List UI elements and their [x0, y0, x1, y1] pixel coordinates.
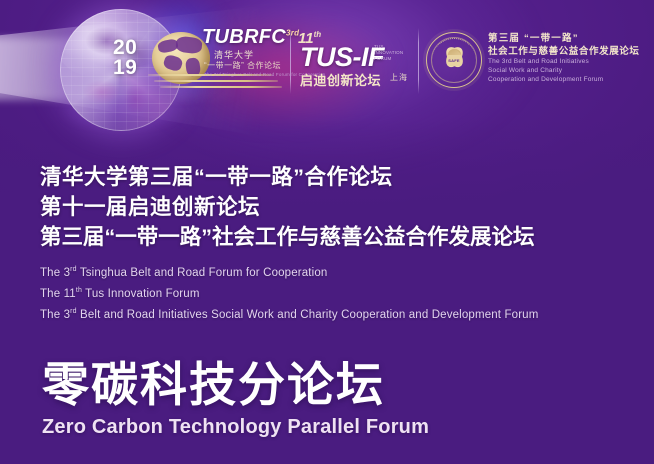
title-en-line-2: The 11th Tus Innovation Forum — [40, 282, 640, 303]
logo-divider-1 — [290, 28, 291, 94]
title-en-2-rest: Tus Innovation Forum — [82, 288, 200, 300]
seal-en-line3: Cooperation and Development Forum — [488, 75, 603, 84]
title-cn-line-1: 清华大学第三届“一带一路”合作论坛 — [40, 162, 640, 192]
tusif-cn-line: 启迪创新论坛 — [300, 70, 381, 89]
seal-cn-line2: 社会工作与慈善公益合作发展论坛 — [488, 43, 640, 57]
seal-en-lines: The 3rd Belt and Road Initiatives Social… — [488, 57, 603, 84]
chinese-title-block: 清华大学第三届“一带一路”合作论坛 第十一届启迪创新论坛 第三届“一带一路”社会… — [40, 162, 640, 252]
seal-en-line1: The 3rd Belt and Road Initiatives — [488, 57, 603, 66]
tusif-wordmark: TUS-IF — [300, 42, 384, 73]
title-en-1-prefix: The 3 — [40, 267, 70, 279]
title-en-1-rest: Tsinghua Belt and Road Forum for Coopera… — [77, 267, 328, 279]
year-badge: 20 19 — [113, 38, 137, 78]
logo-tubrfc: TUBRFC3rd 清华大学 “一带一路” 合作论坛 The 3rd Tsing… — [152, 22, 286, 98]
logo-divider-2 — [418, 28, 419, 94]
year-top: 20 — [113, 38, 137, 58]
year-bottom: 19 — [113, 58, 137, 78]
seal-core: SAFE — [447, 55, 462, 66]
hero-title-en: Zero Carbon Technology Parallel Forum — [42, 414, 429, 440]
seal-en-line2: Social Work and Charity — [488, 66, 603, 75]
seal-cn-line1: 第三届 “一带一路” — [488, 30, 579, 44]
conference-poster-banner: 20 19 TUBRFC3rd 清华大学 “一带一路” 合作论坛 The 3rd… — [0, 0, 654, 464]
tusif-ordinal-suffix: th — [314, 30, 322, 39]
title-cn-line-3: 第三届“一带一路”社会工作与慈善公益合作发展论坛 — [40, 222, 640, 252]
hero-title-block: 零碳科技分论坛 Zero Carbon Technology Parallel … — [42, 358, 429, 440]
tubrfc-rings-icon — [148, 74, 284, 94]
tusif-side-text: TUS INNOVATION FORUM — [374, 44, 408, 62]
title-en-line-3: The 3rd Belt and Road Initiatives Social… — [40, 303, 640, 324]
hero-title-cn: 零碳科技分论坛 — [42, 358, 429, 412]
title-en-3-rest: Belt and Road Initiatives Social Work an… — [77, 308, 539, 320]
logo-belt-road-charity: SAFE 第三届 “一带一路” 社会工作与慈善公益合作发展论坛 The 3rd … — [426, 28, 638, 94]
tubrfc-cn-line2: “一带一路” 合作论坛 — [204, 60, 281, 71]
seal-core-text: SAFE — [447, 55, 462, 66]
title-en-2-prefix: The 11 — [40, 288, 76, 300]
logo-tus-if: 11th TUS-IF 启迪创新论坛 TUS INNOVATION FORUM … — [298, 26, 410, 92]
tusif-city: 上海 — [390, 72, 408, 83]
circular-seal-icon: SAFE — [426, 32, 482, 88]
tubrfc-wordmark: TUBRFC3rd — [202, 26, 299, 49]
title-en-line-1: The 3rd Tsinghua Belt and Road Forum for… — [40, 261, 640, 282]
english-subtitle-block: The 3rd Tsinghua Belt and Road Forum for… — [40, 261, 640, 323]
tubrfc-wordmark-text: TUBRFC — [202, 26, 286, 48]
logo-row: 20 19 TUBRFC3rd 清华大学 “一带一路” 合作论坛 The 3rd… — [0, 0, 654, 130]
title-en-3-prefix: The 3 — [40, 308, 70, 320]
title-cn-line-2: 第十一届启迪创新论坛 — [40, 192, 640, 222]
